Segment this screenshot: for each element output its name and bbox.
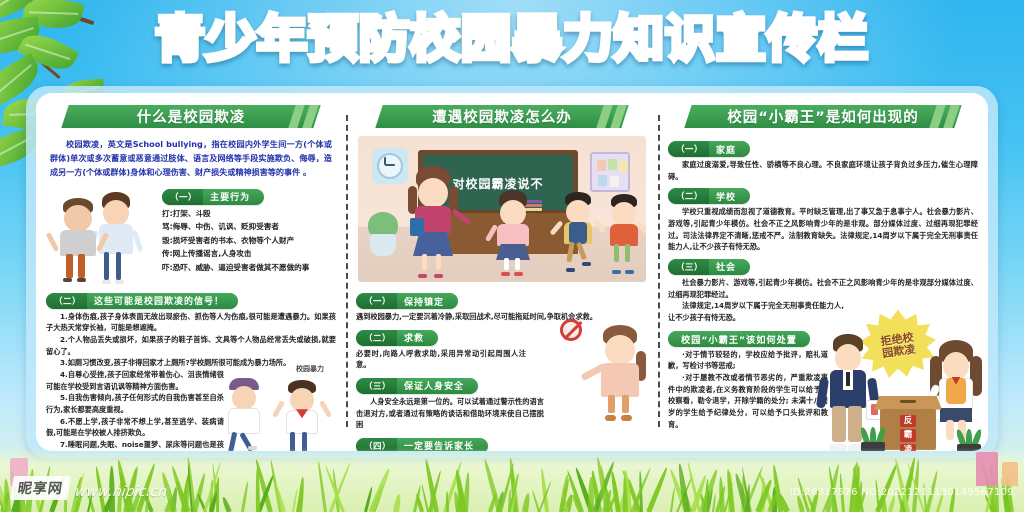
pill-title: 这些可能是校园欺凌的信号！ [87, 293, 238, 309]
section-paragraph: 学校只重视成绩而忽视了道德教育。平时缺乏管理,出了事又急于息事宁人。社会暴力影片… [668, 206, 978, 253]
pill-title: 主要行为 [203, 189, 264, 205]
grass-blade [463, 472, 471, 512]
watermark-logo: 昵享网 [10, 476, 70, 500]
pill-number: （一） [162, 189, 203, 205]
section-school: （二） 学校 学校只重视成绩而忽视了道德教育。平时缺乏管理,出了事又急于息事宁人… [668, 183, 978, 253]
grass-blade [241, 481, 250, 512]
section-paragraph: 必要时,向路人呼救求助,采用异常动引起周围人注意。 [356, 348, 526, 371]
bullying-definition: 校园欺凌，英文是School bullying，指在校园内外学生间一方(个体或群… [46, 136, 336, 180]
illustration-anti-bullying-vote: 拒绝校园欺凌 [814, 310, 986, 451]
pill-section-1-2: （二） 这些可能是校园欺凌的信号！ [46, 293, 238, 309]
watermark-url: www.nipic.cn [74, 484, 168, 500]
signal-paragraph: 2.个人物品丢失或损坏，如果孩子的鞋子首饰、文具等个人物品经常丢失或破损,就要留… [46, 334, 336, 357]
pill-number: （二） [668, 188, 709, 204]
pill-number: （二） [46, 293, 87, 309]
poster-root: 青少年预防校园暴力知识宣传栏 什么是校园欺凌 校园欺凌，英文是School bu… [0, 0, 1024, 512]
watermark: 昵享网 www.nipic.cn [12, 476, 167, 500]
pill-section-1-1: （一） 主要行为 [162, 189, 264, 205]
column1-banner: 什么是校园欺凌 [65, 105, 317, 128]
column-what-is-bullying: 什么是校园欺凌 校园欺凌，英文是School bullying，指在校园内外学生… [36, 93, 346, 451]
pill-section-3-1: （一） 家庭 [668, 141, 750, 157]
signal-paragraph: 1.身体伤痕,孩子身体表面无故出现瘀伤、抓伤等人为伤痕,很可能是遭遇暴力。如果孩… [46, 311, 336, 334]
signal-paragraph: 4.自尊心受挫,孩子回家经常带着伤心、沮丧情绪很可能在学校受到言语讥讽等精神方面… [46, 369, 224, 392]
dispose-paragraph: ·对于屡教不改或者情节恶劣的，严重欺凌事件中的欺凌者,在义务教育阶段的学生可以给… [668, 372, 828, 430]
notice-board [590, 152, 630, 192]
grass-blade [324, 465, 345, 512]
pill-section-3-2: （二） 学校 [668, 188, 750, 204]
section-warning-signals: （二） 这些可能是校园欺凌的信号！ 1.身体伤痕,孩子身体表面无故出现瘀伤、抓伤… [46, 288, 336, 451]
no-entry-icon [560, 319, 582, 341]
grass-blade [531, 490, 540, 512]
starburst-text: 拒绝校园欺凌 [877, 331, 920, 359]
pill-title: 保证人身安全 [397, 378, 478, 394]
signal-paragraph: 5.自我伤害倾向,孩子任何形式的自我伤害甚至自杀行为,家长都要高度重视。 [46, 392, 224, 415]
illustration-two-boys: 校园暴力 [214, 364, 340, 451]
section-main-behaviours: （一） 主要行为 打:打架、斗殴 骂:侮辱、中伤、讥讽、贬抑受害者 毁:损坏受害… [160, 184, 336, 284]
pill-section-2-2: （二） 求救 [356, 330, 438, 346]
ballot-box-label: 反 霸 凌 [900, 415, 916, 451]
section-paragraph: 家庭过度溺爱,导致任性、骄横等不良心理。不良家庭环境让孩子背负过多压力,催生心理… [668, 159, 978, 182]
poster-title-wrap: 青少年预防校园暴力知识宣传栏 [0, 14, 1024, 64]
student-girl-pink [488, 190, 538, 276]
grass-blade [393, 494, 402, 512]
pill-number: （一） [668, 141, 709, 157]
section-personal-safety: （三） 保证人身安全 人身安全永远是第一位的。可以试着通过警示性的语言击退对方,… [356, 373, 648, 431]
content-panel: 什么是校园欺凌 校园欺凌，英文是School bullying，指在校园内外学生… [36, 93, 988, 451]
behaviour-line: 毁:损坏受害者的书本、衣物等个人财产 [162, 234, 336, 248]
ballot-char: 反 [900, 415, 916, 428]
pill-title: 学校 [709, 188, 750, 204]
image-id-tag: ID:28317576 NO:20221211130149567109 [790, 487, 1014, 498]
student-girl-left [402, 166, 464, 278]
behaviour-line: 打:打架、斗殴 [162, 207, 336, 221]
behaviour-line: 传:网上传播谣言,人身攻击 [162, 247, 336, 261]
behaviour-line: 骂:侮辱、中伤、讥讽、贬抑受害者 [162, 220, 336, 234]
pill-number: （三） [668, 259, 709, 275]
pill-dispose-title: 校园“小霸王”该如何处置 [668, 331, 810, 347]
building-right-2 [1002, 462, 1018, 486]
pill-title: 求救 [397, 330, 438, 346]
grass-blade [588, 477, 594, 512]
blackboard-text: 对校园霸凌说不 [452, 175, 543, 192]
illustration-label-violence: 校园暴力 [296, 364, 324, 374]
illustration-classroom: 对校园霸凌说不 [358, 136, 646, 282]
student-boy-jumping [554, 192, 602, 272]
ballot-char: 霸 [900, 429, 916, 442]
student-boy-right [602, 194, 646, 274]
pill-section-3-3: （三） 社会 [668, 259, 750, 275]
grass-blade [670, 487, 676, 512]
grass-blade [646, 466, 669, 512]
behaviour-line: 吓:恐吓、威胁、逼迫受害者做其不愿做的事 [162, 261, 336, 275]
section-paragraph: 社会暴力影片、游戏等,引起青少年模仿。社会不正之风影响青少年的是非观部分媒体过度… [668, 277, 978, 300]
column3-banner: 校园“小霸王”是如何出现的 [688, 105, 958, 128]
pill-number: （三） [356, 378, 397, 394]
pill-number: （一） [356, 293, 397, 309]
column1-banner-label: 什么是校园欺凌 [65, 105, 317, 128]
plant-pot [370, 234, 396, 256]
column-what-to-do: 遭遇校园欺凌怎么办 对校园霸凌说不 [346, 93, 658, 451]
column3-banner-label: 校园“小霸王”是如何出现的 [688, 105, 958, 128]
page-title: 青少年预防校园暴力知识宣传栏 [155, 14, 869, 64]
pill-title: 保持镇定 [397, 293, 458, 309]
dispose-paragraph: ·对于情节较轻的，学校应给予批评，赔礼道歉，写检讨书等惩戒; [668, 349, 828, 372]
pill-title: 校园“小霸王”该如何处置 [668, 331, 810, 347]
section-seek-help: （二） 求救 必要时,向路人呼救求助,采用异常动引起周围人注意。 [356, 325, 648, 371]
column-how-bullies-appear: 校园“小霸王”是如何出现的 （一） 家庭 家庭过度溺爱,导致任性、骄横等不良心理… [658, 93, 988, 451]
grass-blade [221, 496, 231, 512]
section-family: （一） 家庭 家庭过度溺爱,导致任性、骄横等不良心理。不良家庭环境让孩子背负过多… [668, 136, 978, 182]
column2-banner-label: 遭遇校园欺凌怎么办 [379, 105, 625, 128]
column2-banner: 遭遇校园欺凌怎么办 [379, 105, 625, 128]
illustration-fight-scene [46, 184, 160, 284]
grass-blade [522, 493, 531, 512]
pill-title: 社会 [709, 259, 750, 275]
signal-paragraph: 6.不愿上学,孩子非常不想上学,甚至逃学、装病请假,可能是在学校被人排挤欺负。 [46, 416, 224, 439]
section-how-to-dispose: 校园“小霸王”该如何处置 ·对于情节较轻的，学校应给予批评，赔礼道歉，写检讨书等… [668, 326, 978, 431]
pill-section-2-3: （三） 保证人身安全 [356, 378, 478, 394]
section-paragraph: 人身安全永远是第一位的。可以试着通过警示性的语言击退对方,或者通过有策略的谈话和… [356, 396, 544, 431]
pill-title: 家庭 [709, 141, 750, 157]
pill-section-2-1: （一） 保持镇定 [356, 293, 458, 309]
building-right [976, 452, 998, 486]
pill-number: （二） [356, 330, 397, 346]
